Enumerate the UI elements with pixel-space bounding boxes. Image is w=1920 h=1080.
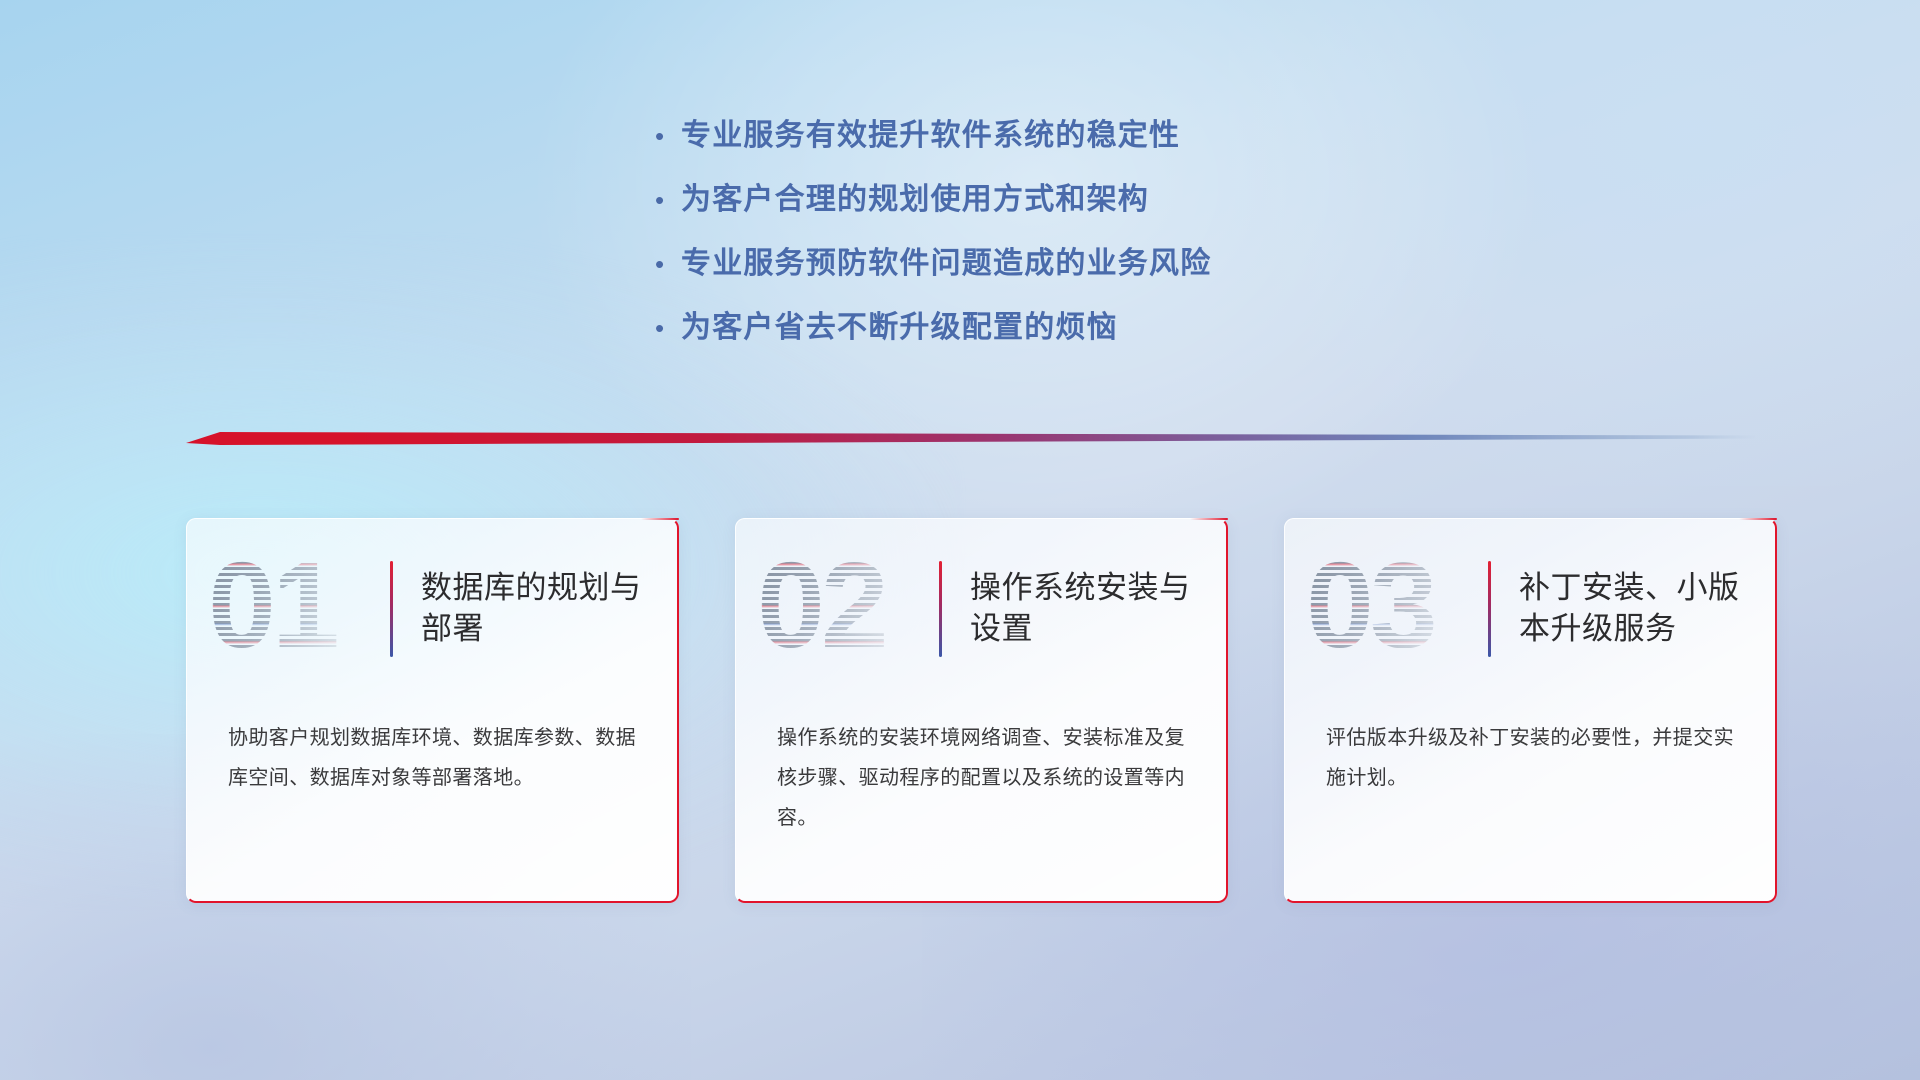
service-card[interactable]: 02 操作系统安装与设置 [735, 518, 1228, 903]
card-title-accent-bar [1488, 561, 1491, 657]
card-description: 操作系统的安装环境网络调查、安装标准及复核步骤、驱动程序的配置以及系统的设置等内… [777, 718, 1191, 838]
card-title: 操作系统安装与设置 [970, 568, 1218, 650]
benefits-bullet-list: 专业服务有效提升软件系统的稳定性 为客户合理的规划使用方式和架构 专业服务预防软… [655, 110, 1475, 366]
card-title-accent-bar [390, 561, 393, 657]
card-red-accent-top [1739, 518, 1777, 520]
service-cards-row: 01 数据库的规划与部署 [186, 518, 1778, 903]
bullet-dot-icon [655, 123, 681, 149]
list-item: 专业服务预防软件问题造成的业务风险 [655, 238, 1475, 302]
card-description: 评估版本升级及补丁安装的必要性，并提交实施计划。 [1326, 718, 1740, 798]
list-item: 为客户合理的规划使用方式和架构 [655, 174, 1475, 238]
card-description: 协助客户规划数据库环境、数据库参数、数据库空间、数据库对象等部署落地。 [228, 718, 642, 798]
bullet-dot-icon [655, 187, 681, 213]
card-title: 数据库的规划与部署 [421, 568, 669, 650]
card-red-accent-top [641, 518, 679, 520]
service-card[interactable]: 03 补丁安装、小版本升 [1284, 518, 1777, 903]
list-item: 为客户省去不断升级配置的烦恼 [655, 302, 1475, 366]
card-title: 补丁安装、小版本升级服务 [1519, 568, 1767, 650]
card-red-accent-top [1190, 518, 1228, 520]
card-header: 01 数据库的规划与部署 [186, 544, 679, 674]
bullet-label: 专业服务有效提升软件系统的稳定性 [681, 110, 1180, 154]
card-number-striped: 01 [208, 549, 390, 669]
list-item: 专业服务有效提升软件系统的稳定性 [655, 110, 1475, 174]
card-number-striped: 02 [757, 549, 939, 669]
card-number-striped: 03 [1306, 549, 1488, 669]
bullet-dot-icon [655, 315, 681, 341]
bullet-label: 为客户省去不断升级配置的烦恼 [681, 302, 1118, 346]
card-header: 03 补丁安装、小版本升 [1284, 544, 1777, 674]
bullet-dot-icon [655, 251, 681, 277]
tapered-gradient-divider [186, 424, 1756, 450]
bullet-label: 专业服务预防软件问题造成的业务风险 [681, 238, 1211, 282]
service-card[interactable]: 01 数据库的规划与部署 [186, 518, 679, 903]
card-header: 02 操作系统安装与设置 [735, 544, 1228, 674]
bullet-label: 为客户合理的规划使用方式和架构 [681, 174, 1149, 218]
card-title-accent-bar [939, 561, 942, 657]
